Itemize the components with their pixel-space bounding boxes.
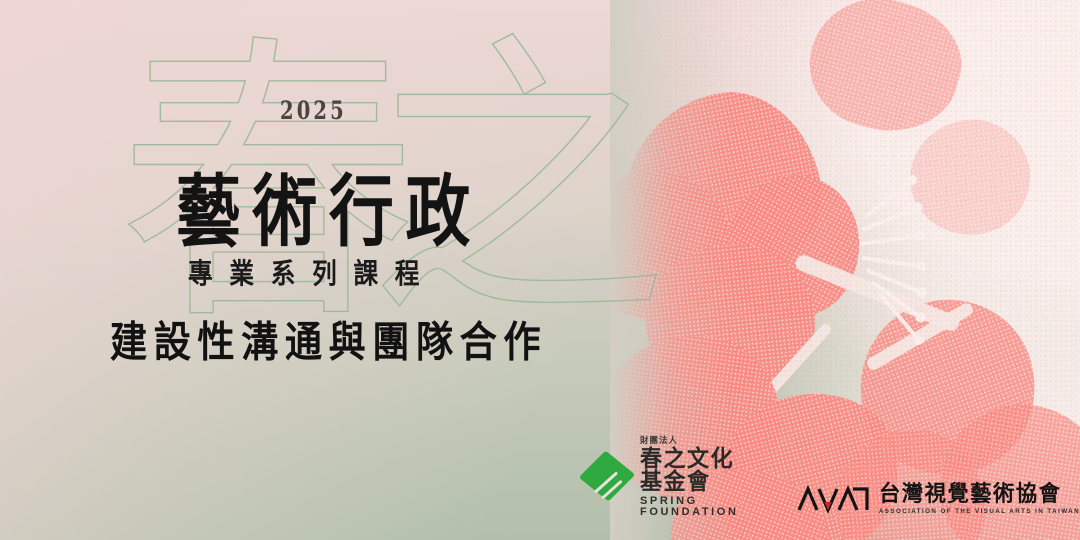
avat-wordmark-icon [797, 481, 869, 518]
page-title: 藝術行政 [176, 148, 482, 261]
spring-legal-prefix: 財團法人 [640, 437, 761, 446]
avat-name-cn: 台灣視覺藝術協會 [879, 483, 1074, 505]
page-subtitle: 專業系列課程 [188, 252, 436, 292]
spring-name-cn: 春之文化基金會 [640, 447, 756, 493]
course-headline: 建設性溝通與團隊合作 [110, 308, 547, 369]
spring-name-en: SPRING FOUNDATION [640, 496, 761, 518]
poster-canvas: 春 之 2025 藝術行政 專業系列課程 建設性溝通與團隊合作 財團法人 春之文… [0, 0, 1080, 540]
logo-bar: 財團法人 春之文化基金會 SPRING FOUNDATION 台灣視 [585, 437, 1080, 519]
avat-name-en: ASSOCIATION OF THE VISUAL ARTS IN TAIWAN [879, 509, 1080, 515]
title-block: 2025 藝術行政 專業系列課程 建設性溝通與團隊合作 [0, 0, 620, 540]
year-label: 2025 [280, 96, 347, 125]
avat-logo[interactable]: 台灣視覺藝術協會 ASSOCIATION OF THE VISUAL ARTS … [797, 481, 1080, 518]
spring-foundation-logo[interactable]: 財團法人 春之文化基金會 SPRING FOUNDATION [585, 437, 761, 519]
spring-diamond-icon [585, 454, 631, 500]
